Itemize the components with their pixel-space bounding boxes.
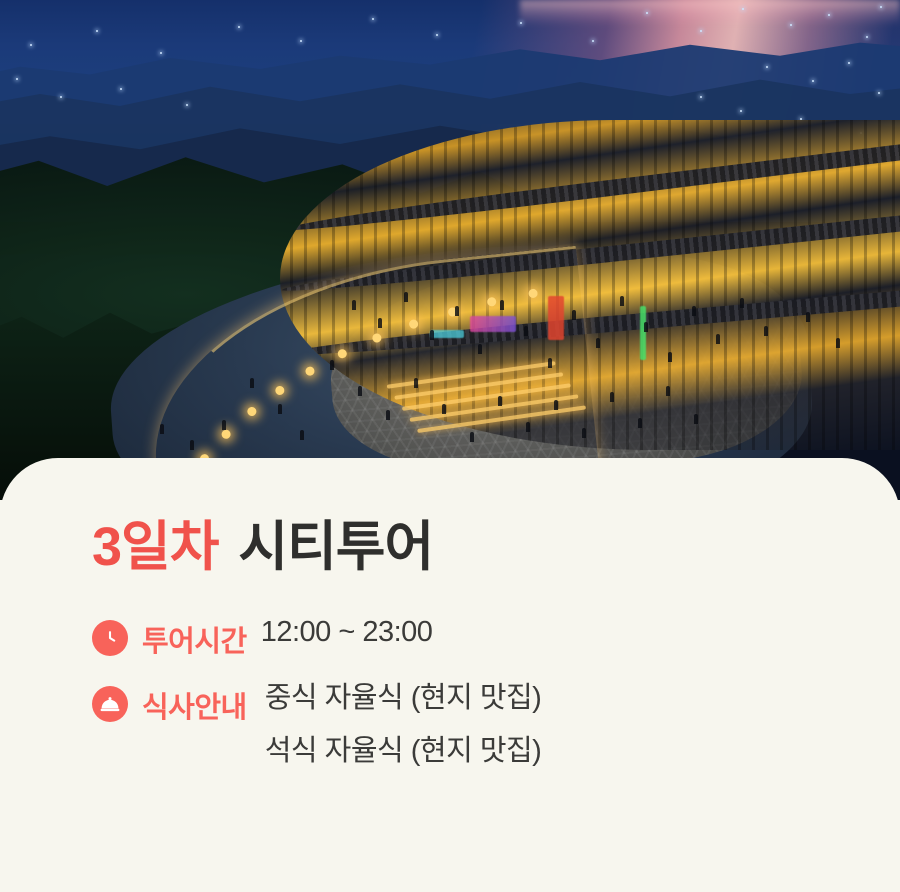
info-row-label-tour-time: 투어시간 <box>142 618 247 660</box>
title-name: 시티투어 <box>238 517 433 577</box>
info-row-tour-time: 투어시간 12:00 ~ 23:00 <box>92 618 900 660</box>
info-row-meal-info: 식사안내 중식 자율식 (현지 맛집) 석식 자율식 (현지 맛집) <box>92 684 900 766</box>
meal-dome-icon <box>92 686 128 722</box>
info-row-values-meal-info: 중식 자율식 (현지 맛집) 석식 자율식 (현지 맛집) <box>265 684 542 766</box>
meal-lunch-value: 중식 자율식 (현지 맛집) <box>265 684 542 713</box>
title-day: 3일차 <box>92 517 218 577</box>
clock-icon <box>92 620 128 656</box>
info-rows: 투어시간 12:00 ~ 23:00 식사안내 <box>92 618 900 766</box>
promo-itinerary-screen: 3일차시티투어 투어시간 12:00 ~ 23:00 <box>0 0 900 892</box>
sunset-afterglow <box>520 0 900 26</box>
neon-accent-green <box>640 306 646 360</box>
page-title: 3일차시티투어 <box>92 520 900 574</box>
info-row-label-meal-info: 식사안내 <box>142 684 247 726</box>
itinerary-card: 3일차시티투어 투어시간 12:00 ~ 23:00 <box>0 458 900 892</box>
meal-dinner-value: 석식 자율식 (현지 맛집) <box>265 737 542 766</box>
tour-time-value: 12:00 ~ 23:00 <box>261 618 433 647</box>
hero-photo <box>0 0 900 500</box>
info-row-values-tour-time: 12:00 ~ 23:00 <box>261 618 433 647</box>
